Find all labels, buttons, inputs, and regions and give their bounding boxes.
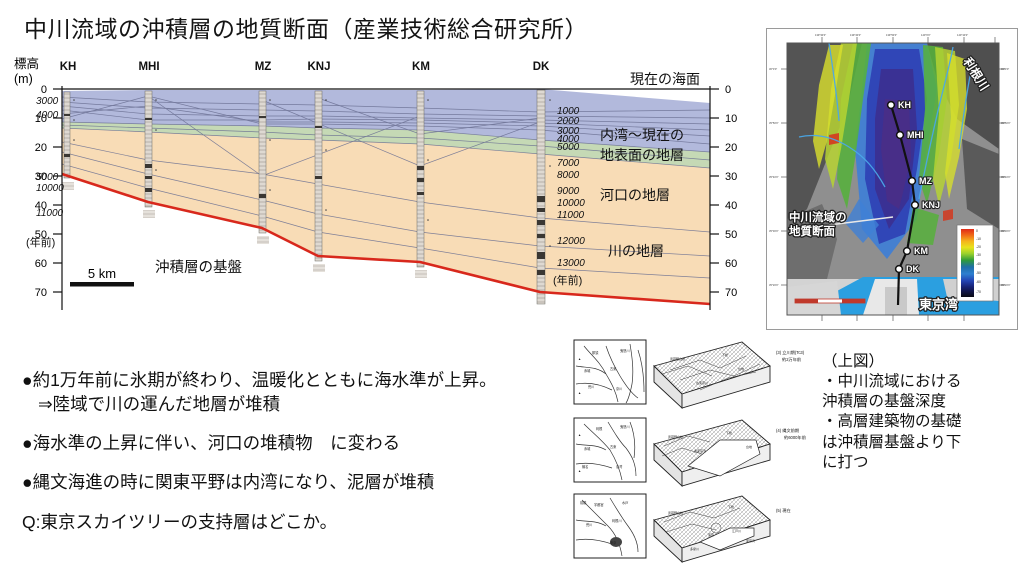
svg-text:赤城: 赤城 [584, 446, 591, 451]
svg-text:13000: 13000 [557, 258, 585, 269]
map-scale-bar [795, 299, 865, 303]
svg-text:5000: 5000 [36, 172, 59, 183]
svg-text:水戸: 水戸 [622, 500, 628, 505]
map-callout-line1: 中川流域の [789, 210, 847, 224]
svg-text:3000: 3000 [36, 96, 59, 107]
right-note-line5: は沖積層基盤より下 [822, 433, 1012, 453]
svg-text:11000: 11000 [36, 208, 64, 219]
svg-text:35°20'0": 35°20'0" [1001, 283, 1011, 287]
borehole-label-kh: KH [60, 61, 77, 73]
svg-text:▲: ▲ [578, 391, 581, 395]
layer-label-upper-line2: 地表面の地層 [600, 147, 684, 163]
svg-text:台地: 台地 [746, 444, 752, 449]
bullet-item-question: Q:東京スカイツリーの支持層はどこか。 [22, 510, 582, 534]
bullet-item-1: ●約1万年前に氷期が終わり、温暖化とともに海水準が上昇。 ⇒陸域で川の運んだ地層… [22, 368, 582, 416]
svg-text:12000: 12000 [557, 236, 585, 247]
svg-text:35°20'0": 35°20'0" [769, 283, 779, 287]
svg-text:140°10'0": 140°10'0" [957, 33, 968, 37]
panel-row-3: 宇都宮水戸 前橋利根川 荒川東京 武蔵野台地 下総 東京 江戸川 多摩川 東京湾 [574, 494, 791, 562]
borehole-label-mz: MZ [255, 61, 272, 73]
borehole-label-dk: DK [533, 61, 550, 73]
bullet-3-main: ●縄文海進の時に関東平野は内湾になり、泥層が堆積 [22, 472, 434, 492]
svg-text:東京: 東京 [610, 540, 616, 545]
svg-text:0: 0 [976, 229, 978, 233]
svg-text:利根: 利根 [596, 426, 603, 431]
svg-text:-50: -50 [976, 271, 981, 275]
map-label-mhi: MHI [907, 130, 924, 140]
right-y-tick-30: 30 [725, 171, 737, 183]
svg-text:4000: 4000 [36, 110, 59, 121]
svg-text:武蔵野台地: 武蔵野台地 [670, 356, 685, 361]
svg-text:武蔵野台地: 武蔵野台地 [668, 510, 683, 515]
svg-text:台地: 台地 [738, 366, 744, 371]
map-label-dk: DK [906, 264, 919, 274]
right-note-line2: ・中川流域における [822, 372, 1012, 392]
svg-text:鬼怒川: 鬼怒川 [620, 424, 630, 429]
scale-bar: 5 km [70, 266, 134, 287]
y-tick-20: 20 [35, 142, 47, 154]
geologic-cross-section: 0 10 20 30 40 50 60 70 標高 (m) 0 [0, 56, 770, 318]
svg-text:9000: 9000 [557, 186, 580, 197]
svg-text:139°30'0": 139°30'0" [815, 33, 826, 37]
panel-1-caption-line1: (3) 立川期(Tc3) [776, 349, 805, 356]
svg-text:榛名: 榛名 [582, 464, 588, 469]
svg-text:荒川: 荒川 [588, 384, 594, 389]
svg-text:8000: 8000 [557, 170, 580, 181]
right-note-line3: 沖積層の基盤深度 [822, 392, 1012, 412]
svg-text:35°30'0": 35°30'0" [1001, 229, 1011, 233]
right-note-line6: に打つ [822, 453, 1012, 473]
bullet-1-sub: ⇒陸域で川の運んだ地層が堆積 [22, 392, 582, 416]
layer-label-lower: 川の地層 [608, 243, 664, 259]
svg-text:赤城: 赤城 [584, 368, 591, 373]
svg-text:荒川: 荒川 [586, 522, 592, 527]
kh-age-unit: (年前) [26, 235, 55, 249]
paleogeography-panels: 那須鬼怒川 赤城古東 荒川京川 ▲▲ 武蔵野台地 下総 台地 古東京川 (3) [570, 336, 810, 564]
right-note-block: （上図） ・中川流域における 沖積層の基盤深度 ・高層建築物の基礎 は沖積層基盤… [822, 352, 1012, 473]
bullet-item-2: ●海水準の上昇に伴い、河口の堆積物 に変わる [22, 431, 582, 455]
bullet-list: ●約1万年前に氷期が終わり、温暖化とともに海水準が上昇。 ⇒陸域で川の運んだ地層… [22, 368, 582, 549]
y-tick-0: 0 [41, 84, 47, 96]
y-axis-label-line1: 標高 [14, 56, 39, 71]
svg-text:36°0'0": 36°0'0" [1001, 67, 1009, 71]
svg-text:35°50'0": 35°50'0" [769, 121, 779, 125]
svg-text:東京: 東京 [708, 532, 714, 537]
svg-text:宇都宮: 宇都宮 [594, 502, 604, 507]
right-axis: 0 10 20 30 40 50 60 70 [710, 84, 737, 310]
svg-text:▲: ▲ [578, 433, 581, 437]
svg-text:-40: -40 [976, 262, 981, 266]
basement-label: 沖積層の基盤 [155, 259, 242, 276]
svg-text:京湾: 京湾 [616, 464, 623, 469]
layer-label-middle: 河口の地層 [600, 187, 670, 203]
svg-text:35°50'0": 35°50'0" [1001, 121, 1011, 125]
y-axis-label-line2: (m) [14, 72, 33, 86]
page-title: 中川流域の沖積層の地質断面（産業技術総合研究所） [24, 10, 588, 44]
panel-1-caption-line2: 約2万年前 [782, 356, 801, 363]
svg-text:▲: ▲ [578, 469, 581, 473]
svg-text:35°40'0": 35°40'0" [1001, 175, 1011, 179]
bullet-2-main: ●海水準の上昇に伴い、河口の堆積物 に変わる [22, 433, 400, 453]
panel-row-1: 那須鬼怒川 赤城古東 荒川京川 ▲▲ 武蔵野台地 下総 台地 古東京川 (3) [574, 340, 805, 408]
svg-text:前橋: 前橋 [580, 500, 587, 505]
map-legend: 0 -10 -20 -30 -40 -50 -60 -70 [957, 225, 993, 301]
svg-text:140°0'0": 140°0'0" [921, 33, 931, 37]
svg-text:下総: 下総 [728, 504, 734, 509]
svg-text:11000: 11000 [557, 210, 585, 221]
svg-text:10000: 10000 [557, 198, 585, 209]
svg-text:奥東京湾: 奥東京湾 [694, 448, 706, 453]
right-y-tick-40: 40 [725, 200, 737, 212]
svg-text:35°30'0": 35°30'0" [769, 229, 779, 233]
right-y-tick-20: 20 [725, 142, 737, 154]
sea-level-label: 現在の海面 [630, 71, 700, 87]
dk-age-unit: (年前) [553, 273, 582, 287]
right-y-tick-70: 70 [725, 287, 737, 299]
svg-text:139°50'0": 139°50'0" [886, 33, 897, 37]
panel-2-caption-line1: (4) 縄文前期 [776, 427, 799, 434]
right-y-tick-60: 60 [725, 258, 737, 270]
right-note-line4: ・高層建築物の基礎 [822, 412, 1012, 432]
svg-text:江戸川: 江戸川 [732, 528, 741, 533]
svg-text:古東: 古東 [610, 366, 617, 371]
borehole-label-knj: KNJ [307, 61, 330, 73]
borehole-label-mhi: MHI [138, 61, 159, 73]
svg-text:下総: 下総 [726, 430, 732, 435]
kh-age-labels: 3000 4000 5000 10000 11000 (年前) [26, 96, 64, 249]
y-tick-60: 60 [35, 258, 47, 270]
svg-text:東京湾: 東京湾 [746, 538, 755, 543]
svg-text:35°40'0": 35°40'0" [769, 175, 779, 179]
map-label-knj: KNJ [922, 200, 940, 210]
svg-text:多摩川: 多摩川 [690, 546, 699, 551]
svg-text:36°0'0": 36°0'0" [769, 67, 777, 71]
map-callout-line2: 地質断面 [789, 224, 835, 238]
panel-3-caption-line1: (5) 現在 [776, 507, 791, 514]
layer-label-upper-line1: 内湾〜現在の [600, 127, 684, 143]
bullet-1-main: ●約1万年前に氷期が終わり、温暖化とともに海水準が上昇。 [22, 370, 497, 390]
svg-text:-20: -20 [976, 245, 981, 249]
panel-row-2: 利根鬼怒川 赤城古東 榛名京湾 ▲▲ 武蔵野台地 下総 奥東京湾 台地 (4) … [574, 418, 806, 486]
right-y-tick-0: 0 [725, 84, 731, 96]
map-label-mz: MZ [919, 176, 932, 186]
svg-text:武蔵野台地: 武蔵野台地 [668, 434, 683, 439]
svg-text:京川: 京川 [616, 386, 622, 391]
map-bay-label: 東京湾 [919, 297, 958, 312]
svg-text:▲: ▲ [578, 357, 581, 361]
right-y-tick-50: 50 [725, 229, 737, 241]
right-note-line1: （上図） [822, 352, 1012, 372]
svg-text:-70: -70 [976, 290, 981, 294]
svg-text:5000: 5000 [557, 142, 580, 153]
panel-2-caption-line2: 約6000年前 [784, 434, 806, 441]
map-label-km: KM [914, 246, 928, 256]
location-map: KH MHI MZ KNJ KM DK 中川流域の 地質断面 東京湾 利根川 [766, 28, 1016, 328]
borehole-label-km: KM [412, 61, 430, 73]
svg-text:7000: 7000 [557, 158, 580, 169]
svg-text:那須: 那須 [592, 350, 599, 355]
svg-text:鬼怒川: 鬼怒川 [620, 348, 630, 353]
svg-text:-30: -30 [976, 253, 981, 257]
svg-text:10000: 10000 [36, 183, 64, 194]
right-y-tick-10: 10 [725, 113, 737, 125]
svg-text:-10: -10 [976, 237, 981, 241]
scale-bar-label: 5 km [88, 266, 116, 281]
bullet-item-3: ●縄文海進の時に関東平野は内湾になり、泥層が堆積 [22, 470, 582, 494]
svg-text:古東京川: 古東京川 [696, 380, 708, 385]
svg-text:利根川: 利根川 [612, 518, 622, 523]
y-tick-70: 70 [35, 287, 47, 299]
svg-text:古東: 古東 [610, 444, 617, 449]
svg-text:下総: 下総 [722, 352, 728, 357]
svg-text:139°40'0": 139°40'0" [850, 33, 861, 37]
svg-text:-60: -60 [976, 280, 981, 284]
question-text: Q:東京スカイツリーの支持層はどこか。 [22, 512, 337, 532]
map-label-kh: KH [898, 100, 911, 110]
